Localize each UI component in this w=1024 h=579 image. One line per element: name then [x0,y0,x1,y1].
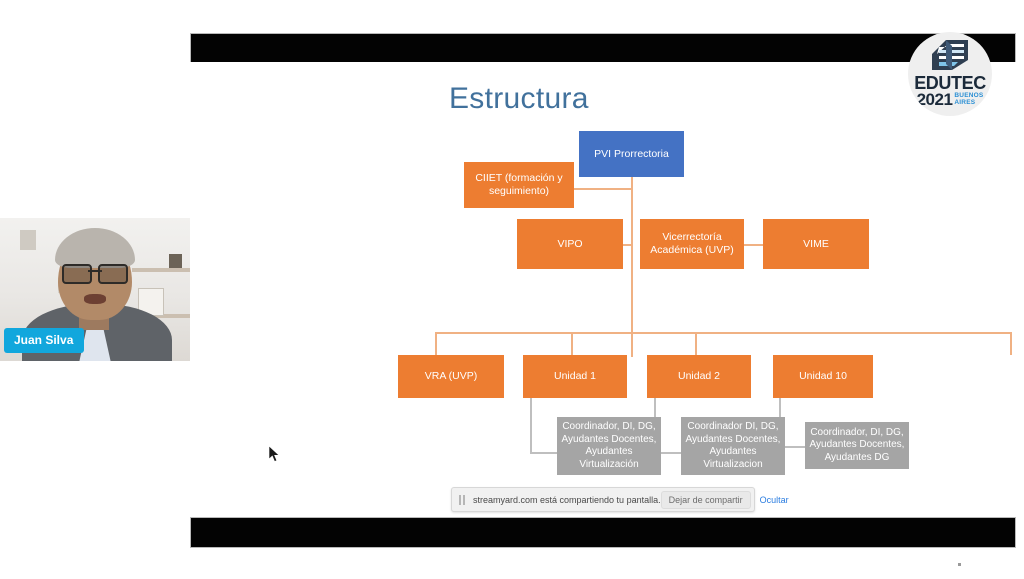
org-node-label: Unidad 2 [678,370,720,383]
org-node-ciiet[interactable]: CIIET (formación y seguimiento) [464,162,574,208]
org-node-staff-unidad-2[interactable]: Coordinador DI, DG, Ayudantes Docentes, … [681,417,785,475]
org-node-pvi-prorrectoria[interactable]: PVI Prorrectoria [579,131,684,177]
org-node-unidad-2[interactable]: Unidad 2 [647,355,751,398]
shared-slide: Estructura PVI Prorrectoria CIIET (forma… [190,62,1016,517]
org-node-label: Coordinador, DI, DG, Ayudantes Docentes,… [561,421,657,471]
connector-pvi-vertical [631,177,633,284]
connector-middle-to-bottom [631,284,633,357]
org-node-label: CIIET (formación y seguimiento) [468,172,570,198]
org-node-vipo[interactable]: VIPO [517,219,623,269]
connector-drop-unidad1 [571,332,573,355]
shelf [132,268,190,272]
glasses-icon [62,264,128,280]
org-node-label: PVI Prorrectoria [594,148,669,161]
logo-city-line1: BUENOS [954,92,983,99]
org-node-vime[interactable]: VIME [763,219,869,269]
org-node-label: Vicerrectoría Académica (UVP) [644,231,740,257]
connector-staff1-horizontal [530,452,557,454]
org-node-staff-unidad-1[interactable]: Coordinador, DI, DG, Ayudantes Docentes,… [557,417,661,475]
org-node-label: Unidad 10 [799,370,847,383]
wall-object [20,230,36,250]
page-title: Estructura [449,82,589,116]
participant-mouth [84,294,106,304]
logo-year: 2021 [917,92,953,107]
participant-video-tile[interactable]: Juan Silva [0,218,190,361]
slide-letterbox-top [190,33,1016,64]
connector-drop-unidad2 [695,332,697,355]
org-node-label: VIME [803,238,829,251]
desktop-artifact [958,563,961,566]
logo-city-line2: AIRES [954,99,983,106]
stop-sharing-button[interactable]: Dejar de compartir [661,491,751,509]
org-node-unidad-1[interactable]: Unidad 1 [523,355,627,398]
participant-name-badge: Juan Silva [4,328,84,353]
org-node-label: VRA (UVP) [425,370,478,383]
shelf-object [169,254,182,268]
mouse-cursor-icon [269,446,280,462]
org-node-unidad-10[interactable]: Unidad 10 [773,355,873,398]
hide-notification-button[interactable]: Ocultar [760,495,789,505]
slide-letterbox-bottom [190,517,1016,548]
org-node-label: Unidad 1 [554,370,596,383]
connector-staff1-vertical [530,398,532,454]
org-node-label: VIPO [557,238,582,251]
screen-share-icon [459,495,467,505]
org-node-vicerrectoria-academica[interactable]: Vicerrectoría Académica (UVP) [640,219,744,269]
org-node-label: Coordinador DI, DG, Ayudantes Docentes, … [685,421,781,471]
edutec-logo: EDUTEC 2021 BUENOS AIRES [908,32,992,116]
screen-share-notification: streamyard.com está compartiendo tu pant… [451,487,755,512]
org-node-vra[interactable]: VRA (UVP) [398,355,504,398]
connector-bottom-bus [435,332,1011,334]
screen-share-viewport: Estructura PVI Prorrectoria CIIET (forma… [0,0,1024,579]
org-node-staff-unidad-10[interactable]: Coordinador, DI, DG, Ayudantes Docentes,… [805,422,909,469]
connector-drop-vra [435,332,437,355]
share-message: streamyard.com está compartiendo tu pant… [473,495,661,505]
org-node-label: Coordinador, DI, DG, Ayudantes Docentes,… [809,427,905,465]
connector-drop-unidad10 [1010,332,1012,355]
